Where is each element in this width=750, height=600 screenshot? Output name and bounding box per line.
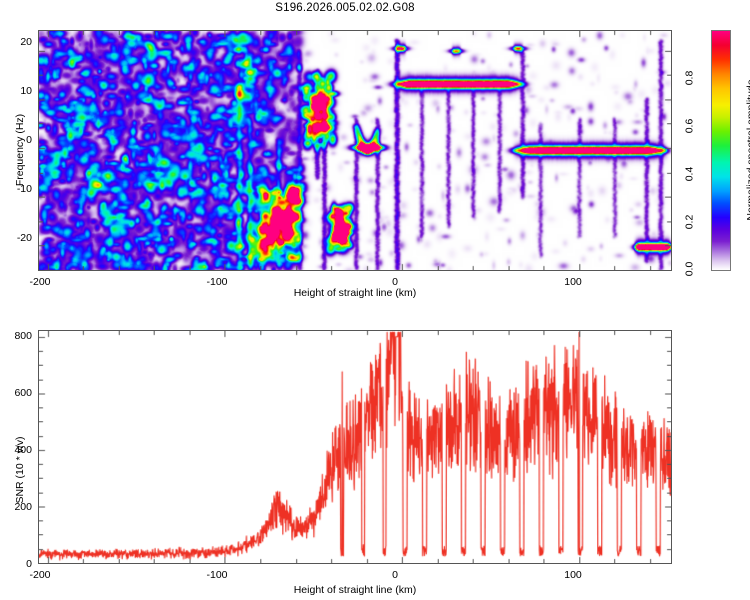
colorbar-tick-1: 0.2 [683,215,695,230]
colorbar-tick-0: 0.0 [683,262,695,277]
colorbar[interactable] [711,30,731,271]
figure-root: S196.2026.005.02.02.G08 -20 -10 0 10 20 … [0,0,750,600]
spec-yaxis-title: Frequency (Hz) [14,114,26,186]
spec-ytick-4: 20 [4,36,32,48]
spec-ytick-0: -20 [4,232,32,244]
spectrogram-panel[interactable] [38,30,672,271]
snr-yaxis-title: SNR (10 * v/v) [14,436,26,503]
snr-xtick-0: -200 [29,569,50,581]
snr-ytick-0: 0 [4,558,32,570]
colorbar-tick-3: 0.6 [683,119,695,134]
spectrogram-image [39,31,671,270]
page-title: S196.2026.005.02.02.G08 [0,2,690,14]
colorbar-tick-4: 0.8 [683,71,695,86]
spec-xtick-0: -200 [29,276,50,288]
snr-xtick-2: 0 [392,569,398,581]
spec-ytick-3: 10 [4,85,32,97]
snr-trace [39,331,671,563]
snr-xtick-1: -100 [206,569,227,581]
colorbar-title: Normalized spectral amplitude [745,79,750,220]
snr-panel[interactable] [38,330,672,564]
snr-xaxis-title: Height of straight line (km) [294,584,417,596]
snr-ytick-3: 600 [4,387,32,399]
spec-xaxis-title: Height of straight line (km) [294,287,417,299]
colorbar-tick-2: 0.4 [683,167,695,182]
spec-xtick-3: 100 [564,276,582,288]
spec-xtick-1: -100 [206,276,227,288]
snr-ytick-4: 800 [4,330,32,342]
snr-xtick-3: 100 [564,569,582,581]
